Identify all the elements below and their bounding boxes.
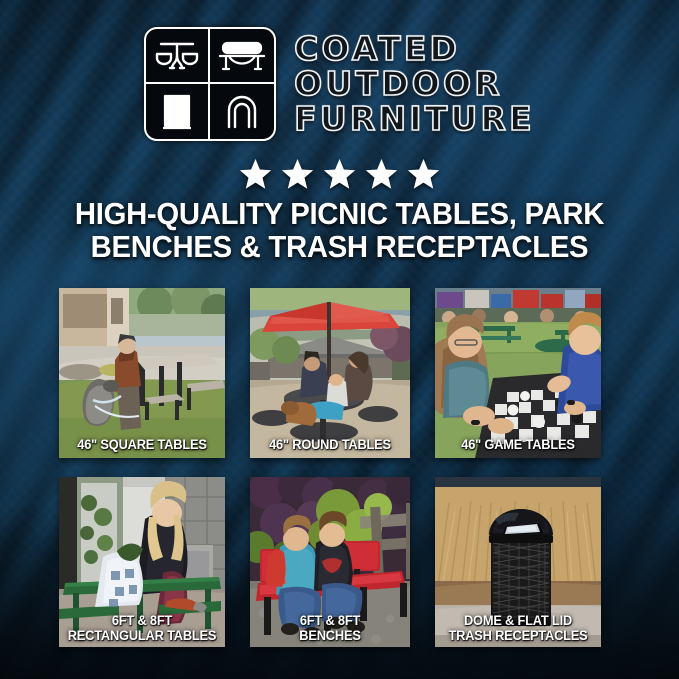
product-tile[interactable]: 46" SQUARE TABLES [59,288,225,458]
headline-line-2: BENCHES & TRASH RECEPTACLES [42,231,636,264]
bench-table-icon [210,29,274,84]
headline: HIGH-QUALITY PICNIC TABLES, PARK BENCHES… [42,198,636,264]
game-table-checkerboard-players-photo [435,288,601,458]
product-tile[interactable]: 6FT & 8FT BENCHES [250,477,410,647]
advertisement-banner: COATED OUTDOOR FURNITURE HIGH-QUALITY PI… [0,0,679,679]
product-tile[interactable]: DOME & FLAT LID TRASH RECEPTACLES [435,477,601,647]
star-icon [323,158,356,190]
trash-receptacle-icon [146,84,210,139]
red-bench-with-two-boys-photo [250,477,410,647]
brand-wordmark-line-3: FURNITURE [294,102,535,136]
brand-wordmark-line-1: COATED [294,32,460,66]
brand-wordmark: COATED OUTDOOR FURNITURE [294,32,535,137]
headline-line-1: HIGH-QUALITY PICNIC TABLES, PARK [75,197,604,231]
logo-icon-grid [144,27,276,141]
star-icon [365,158,398,190]
brand-logo: COATED OUTDOOR FURNITURE [0,24,679,144]
product-tile[interactable]: 46" GAME TABLES [435,288,601,458]
star-icon [281,158,314,190]
round-table-with-red-umbrella-photo [250,288,410,458]
star-icon [407,158,440,190]
product-tile[interactable]: 46" ROUND TABLES [250,288,410,458]
green-rectangular-table-gardening-photo [59,477,225,647]
product-tile[interactable]: 6FT & 8FT RECTANGULAR TABLES [59,477,225,647]
black-dome-lid-trash-can-photo [435,477,601,647]
picnic-table-icon [146,29,210,84]
brand-wordmark-line-2: OUTDOOR [294,67,503,101]
product-tile-grid: 46" SQUARE TABLES [59,288,609,647]
star-rating [0,158,679,190]
star-icon [239,158,272,190]
square-table-with-woman-and-dog-photo [59,288,225,458]
bike-rack-icon [210,84,274,139]
